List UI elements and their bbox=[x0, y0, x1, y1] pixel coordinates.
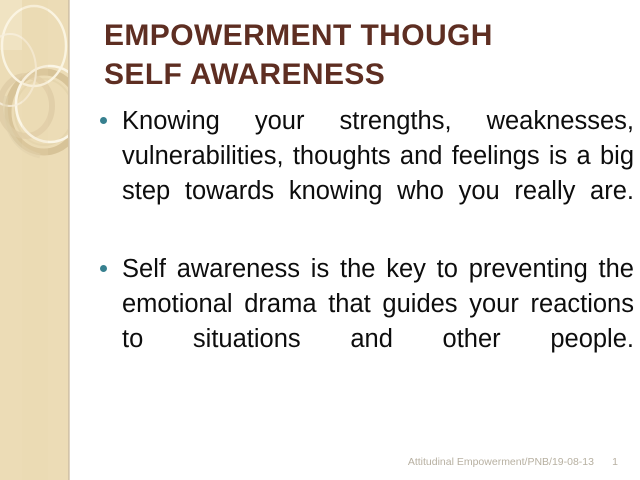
band-edge-divider bbox=[68, 0, 70, 480]
slide-footer: Attitudinal Empowerment/PNB/19-08-13 1 bbox=[0, 456, 640, 474]
decorative-ring-band bbox=[0, 0, 68, 480]
list-item: Self awareness is the key to preventing … bbox=[100, 252, 634, 392]
footer-note: Attitudinal Empowerment/PNB/19-08-13 bbox=[408, 456, 594, 468]
bullet-dot-icon bbox=[100, 104, 122, 124]
bullet-dot-icon bbox=[100, 252, 122, 272]
list-item-text: Self awareness is the key to preventing … bbox=[122, 252, 634, 392]
list-item: Knowing your strengths, weaknesses, vuln… bbox=[100, 104, 634, 244]
footer-page-number: 1 bbox=[612, 456, 618, 468]
ring-decoration-icon bbox=[0, 0, 68, 480]
list-item-text: Knowing your strengths, weaknesses, vuln… bbox=[122, 104, 634, 244]
page-title: EMPOWERMENT THOUGH SELF AWARENESS bbox=[104, 16, 624, 94]
slide-canvas: EMPOWERMENT THOUGH SELF AWARENESS Knowin… bbox=[0, 0, 640, 480]
bullet-list: Knowing your strengths, weaknesses, vuln… bbox=[100, 104, 634, 400]
